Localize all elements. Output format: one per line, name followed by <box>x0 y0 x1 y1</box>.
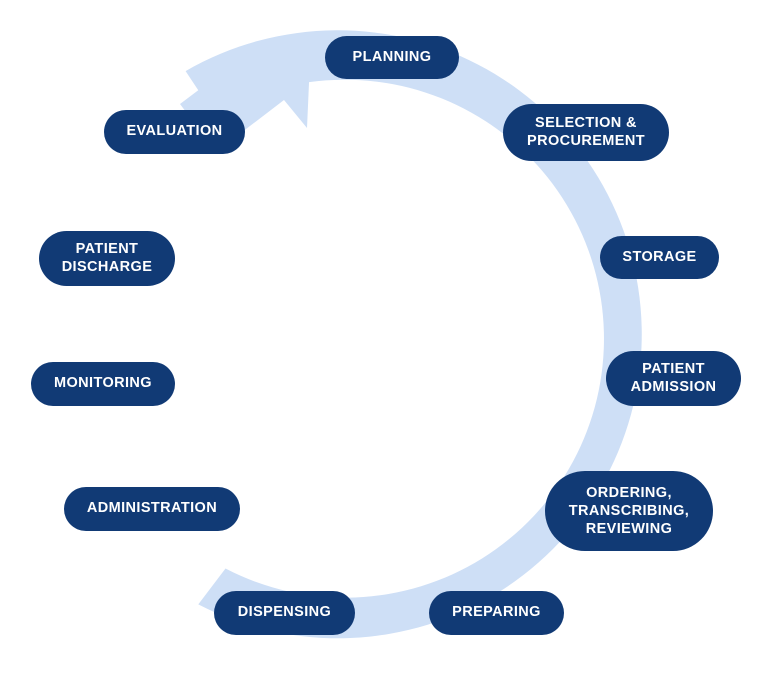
step-selection-procurement-label: SELECTION &PROCUREMENT <box>527 115 645 150</box>
cycle-ring-arrow <box>0 0 768 679</box>
step-ordering-transcribing-reviewing[interactable]: ORDERING,TRANSCRIBING,REVIEWING <box>545 471 713 551</box>
step-patient-discharge[interactable]: PATIENTDISCHARGE <box>39 231 175 286</box>
step-planning[interactable]: PLANNING <box>325 36 459 79</box>
step-preparing-label: PREPARING <box>452 604 541 621</box>
step-preparing[interactable]: PREPARING <box>429 591 564 635</box>
process-cycle-diagram: PLANNING SELECTION &PROCUREMENT STORAGE … <box>0 0 768 679</box>
step-patient-admission-label: PATIENTADMISSION <box>631 361 717 396</box>
step-dispensing-label: DISPENSING <box>238 604 331 621</box>
step-selection-procurement[interactable]: SELECTION &PROCUREMENT <box>503 104 669 161</box>
step-storage-label: STORAGE <box>622 249 696 266</box>
step-patient-admission[interactable]: PATIENTADMISSION <box>606 351 741 406</box>
step-dispensing[interactable]: DISPENSING <box>214 591 355 635</box>
step-administration-label: ADMINISTRATION <box>87 500 217 517</box>
step-ordering-transcribing-reviewing-label: ORDERING,TRANSCRIBING,REVIEWING <box>569 484 689 538</box>
step-storage[interactable]: STORAGE <box>600 236 719 279</box>
step-administration[interactable]: ADMINISTRATION <box>64 487 240 531</box>
step-monitoring[interactable]: MONITORING <box>31 362 175 406</box>
step-planning-label: PLANNING <box>353 49 432 66</box>
step-evaluation[interactable]: EVALUATION <box>104 110 245 154</box>
step-patient-discharge-label: PATIENTDISCHARGE <box>62 241 153 276</box>
step-evaluation-label: EVALUATION <box>126 123 222 140</box>
step-monitoring-label: MONITORING <box>54 375 152 392</box>
